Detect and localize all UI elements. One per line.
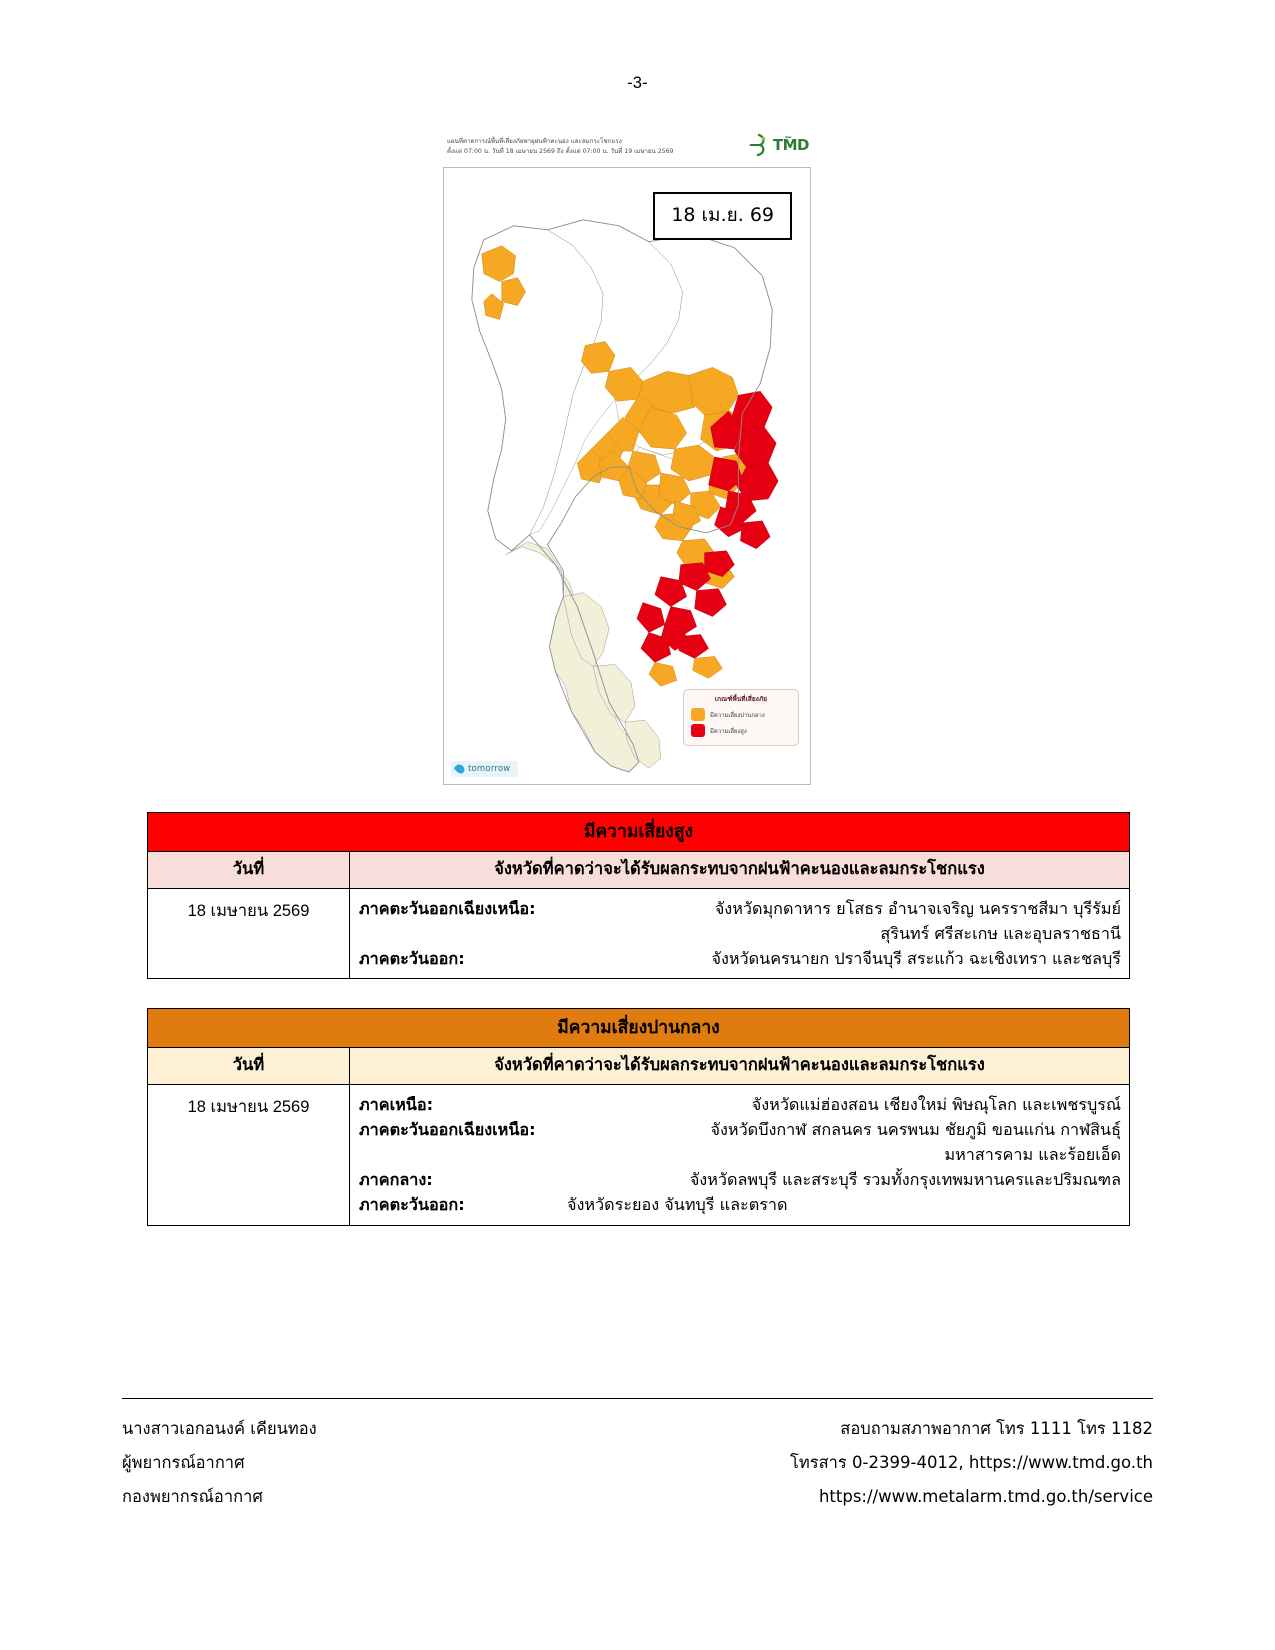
high-risk-table: มีความเสี่ยงสูง วันที่ จังหวัดที่คาดว่าจ… <box>147 812 1130 979</box>
map-legend: เกณฑ์พื้นที่เสี่ยงภัย มีความเสี่ยงปานกลา… <box>683 689 799 746</box>
forecast-map-figure: แผนที่คาดการณ์พื้นที่เสี่ยงภัยพายุฝนฟ้าค… <box>443 133 811 786</box>
figure-caption: แผนที่คาดการณ์พื้นที่เสี่ยงภัยพายุฝนฟ้าค… <box>447 137 717 157</box>
dof-logo-icon <box>746 133 768 157</box>
thailand-risk-map: 18 เม.ย. 69 เกณฑ์พื้นที่เสี่ยงภัย มีความ… <box>443 167 811 785</box>
row-provinces: ภาคตะวันออกเฉียงเหนือ: จังหวัดมุกดาหาร ย… <box>350 889 1130 979</box>
row-date: 18 เมษายน 2569 <box>148 889 350 979</box>
figure-caption-line1: แผนที่คาดการณ์พื้นที่เสี่ยงภัยพายุฝนฟ้าค… <box>447 137 717 147</box>
region-provinces: จังหวัดบึงกาฬ สกลนคร นครพนม ชัยภูมิ ขอนแ… <box>536 1117 1121 1142</box>
region-provinces: จังหวัดระยอง จันทบุรี และตราด <box>567 1192 1121 1217</box>
forecaster-role: ผู้พยากรณ์อากาศ <box>122 1446 317 1480</box>
figure-header: แผนที่คาดการณ์พื้นที่เสี่ยงภัยพายุฝนฟ้าค… <box>443 133 811 169</box>
footer-divider <box>122 1398 1153 1399</box>
row-provinces: ภาคเหนือ: จังหวัดแม่ฮ่องสอน เชียงใหม่ พิ… <box>350 1085 1130 1226</box>
region-entry: ภาคตะวันออกเฉียงเหนือ: จังหวัดมุกดาหาร ย… <box>359 896 1121 921</box>
table-header-row: วันที่ จังหวัดที่คาดว่าจะได้รับผลกระทบจา… <box>148 852 1130 889</box>
table-header-row: วันที่ จังหวัดที่คาดว่าจะได้รับผลกระทบจา… <box>148 1048 1130 1085</box>
region-provinces: จังหวัดมุกดาหาร ยโสธร อำนาจเจริญ นครราชส… <box>536 896 1121 921</box>
forecaster-name: นางสาวเอกอนงค์ เคียนทอง <box>122 1412 317 1446</box>
contact-phone: สอบถามสภาพอากาศ โทร 1111 โทร 1182 <box>790 1412 1153 1446</box>
region-provinces: จังหวัดนครนายก ปราจีนบุรี สระแก้ว ฉะเชิง… <box>567 946 1121 971</box>
legend-swatch-moderate <box>691 708 705 721</box>
column-header-date: วันที่ <box>148 852 350 889</box>
moderate-risk-table: มีความเสี่ยงปานกลาง วันที่ จังหวัดที่คาด… <box>147 1008 1130 1226</box>
table-title-row: มีความเสี่ยงปานกลาง <box>148 1009 1130 1048</box>
table-title-row: มีความเสี่ยงสูง <box>148 813 1130 852</box>
column-header-provinces: จังหวัดที่คาดว่าจะได้รับผลกระทบจากฝนฟ้าค… <box>350 1048 1130 1085</box>
contact-service-url: https://www.metalarm.tmd.go.th/service <box>790 1480 1153 1514</box>
water-drop-icon <box>454 763 467 776</box>
tmd-logo: ~ TMD <box>773 138 809 153</box>
column-header-provinces: จังหวัดที่คาดว่าจะได้รับผลกระทบจากฝนฟ้าค… <box>350 852 1130 889</box>
region-label: ภาคตะวันออก: <box>359 946 567 971</box>
figure-caption-line2: ตั้งแต่ 07:00 น. วันที่ 18 เมษายน 2569 ถ… <box>447 147 717 157</box>
page-number: -3- <box>0 74 1275 93</box>
legend-swatch-high <box>691 724 705 737</box>
legend-item-high: มีความเสี่ยงสูง <box>691 724 793 737</box>
figure-logos: ~ TMD <box>746 133 809 157</box>
contact-fax-website: โทรสาร 0-2399-4012, https://www.tmd.go.t… <box>790 1446 1153 1480</box>
table-row: 18 เมษายน 2569 ภาคตะวันออกเฉียงเหนือ: จั… <box>148 889 1130 979</box>
tomorrow-watermark: tomorrow <box>451 761 518 777</box>
legend-title: เกณฑ์พื้นที่เสี่ยงภัย <box>689 694 793 704</box>
page-footer: นางสาวเอกอนงค์ เคียนทอง ผู้พยากรณ์อากาศ … <box>122 1412 1153 1513</box>
legend-label-moderate: มีความเสี่ยงปานกลาง <box>710 710 765 720</box>
footer-left-block: นางสาวเอกอนงค์ เคียนทอง ผู้พยากรณ์อากาศ … <box>122 1412 317 1513</box>
moderate-risk-title: มีความเสี่ยงปานกลาง <box>148 1009 1130 1048</box>
legend-item-moderate: มีความเสี่ยงปานกลาง <box>691 708 793 721</box>
high-risk-title: มีความเสี่ยงสูง <box>148 813 1130 852</box>
region-label: ภาคตะวันออกเฉียงเหนือ: <box>359 896 536 921</box>
region-label: ภาคเหนือ: <box>359 1092 567 1117</box>
document-page: -3- แผนที่คาดการณ์พื้นที่เสี่ยงภัยพายุฝน… <box>0 0 1275 1650</box>
region-label: ภาคตะวันออก: <box>359 1192 567 1217</box>
region-provinces: จังหวัดลพบุรี และสระบุรี รวมทั้งกรุงเทพม… <box>567 1167 1121 1192</box>
tomorrow-watermark-text: tomorrow <box>468 764 510 774</box>
region-entry: ภาคตะวันออกเฉียงเหนือ: จังหวัดบึงกาฬ สกล… <box>359 1117 1121 1142</box>
table-row: 18 เมษายน 2569 ภาคเหนือ: จังหวัดแม่ฮ่องส… <box>148 1085 1130 1226</box>
footer-right-block: สอบถามสภาพอากาศ โทร 1111 โทร 1182 โทรสาร… <box>790 1412 1153 1513</box>
region-label: ภาคตะวันออกเฉียงเหนือ: <box>359 1117 536 1142</box>
region-entry: ภาคตะวันออก: จังหวัดนครนายก ปราจีนบุรี ส… <box>359 946 1121 971</box>
forecaster-division: กองพยากรณ์อากาศ <box>122 1480 317 1514</box>
column-header-date: วันที่ <box>148 1048 350 1085</box>
region-label: ภาคกลาง: <box>359 1167 567 1192</box>
legend-label-high: มีความเสี่ยงสูง <box>710 726 747 736</box>
map-date-badge: 18 เม.ย. 69 <box>653 192 792 240</box>
region-provinces-continued: มหาสารคาม และร้อยเอ็ด <box>359 1142 1121 1167</box>
region-provinces-continued: สุรินทร์ ศรีสะเกษ และอุบลราชธานี <box>359 921 1121 946</box>
region-entry: ภาคตะวันออก: จังหวัดระยอง จันทบุรี และตร… <box>359 1192 1121 1217</box>
region-entry: ภาคกลาง: จังหวัดลพบุรี และสระบุรี รวมทั้… <box>359 1167 1121 1192</box>
row-date: 18 เมษายน 2569 <box>148 1085 350 1226</box>
region-provinces: จังหวัดแม่ฮ่องสอน เชียงใหม่ พิษณุโลก และ… <box>567 1092 1121 1117</box>
region-entry: ภาคเหนือ: จังหวัดแม่ฮ่องสอน เชียงใหม่ พิ… <box>359 1092 1121 1117</box>
tmd-logo-tilde: ~ <box>784 133 792 143</box>
